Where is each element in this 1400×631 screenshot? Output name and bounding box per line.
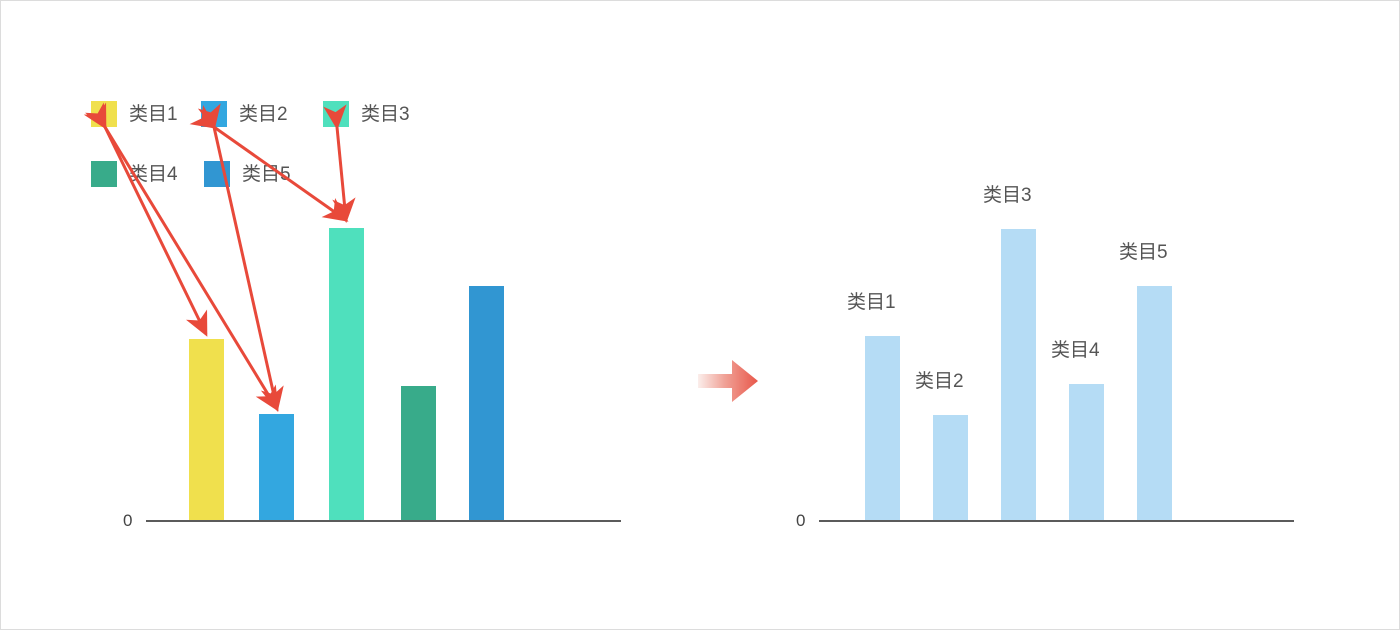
left-bar-category-2[interactable] xyxy=(259,414,294,521)
left-chart-zero-tick: 0 xyxy=(123,512,132,529)
figure-canvas: 类目1 类目2 类目3 类目4 类目5 xyxy=(0,0,1400,630)
right-bar-label-category-3: 类目3 xyxy=(983,186,1032,205)
left-chart-plot-area xyxy=(1,1,701,521)
right-bar-category-1[interactable] xyxy=(865,336,900,521)
right-bar-label-category-5: 类目5 xyxy=(1119,243,1168,262)
right-arrow-icon xyxy=(696,356,766,406)
left-bar-category-1[interactable] xyxy=(189,339,224,521)
right-chart: 类目1 类目2 类目3 类目4 类目5 0 xyxy=(781,1,1400,631)
left-chart: 类目1 类目2 类目3 类目4 类目5 xyxy=(1,1,701,631)
left-bar-category-4[interactable] xyxy=(401,386,436,521)
right-bar-label-category-1: 类目1 xyxy=(847,293,896,312)
left-chart-axis-line xyxy=(146,520,621,522)
right-bar-category-2[interactable] xyxy=(933,415,968,521)
transition-arrow xyxy=(696,356,766,406)
right-bar-label-category-4: 类目4 xyxy=(1051,341,1100,360)
right-chart-axis-line xyxy=(819,520,1294,522)
left-bar-category-3[interactable] xyxy=(329,228,364,521)
right-bar-label-category-2: 类目2 xyxy=(915,372,964,391)
right-chart-zero-tick: 0 xyxy=(796,512,805,529)
right-chart-plot-area: 类目1 类目2 类目3 类目4 类目5 xyxy=(781,1,1400,521)
right-bar-category-5[interactable] xyxy=(1137,286,1172,521)
left-bar-category-5[interactable] xyxy=(469,286,504,521)
right-bar-category-3[interactable] xyxy=(1001,229,1036,521)
right-bar-category-4[interactable] xyxy=(1069,384,1104,521)
